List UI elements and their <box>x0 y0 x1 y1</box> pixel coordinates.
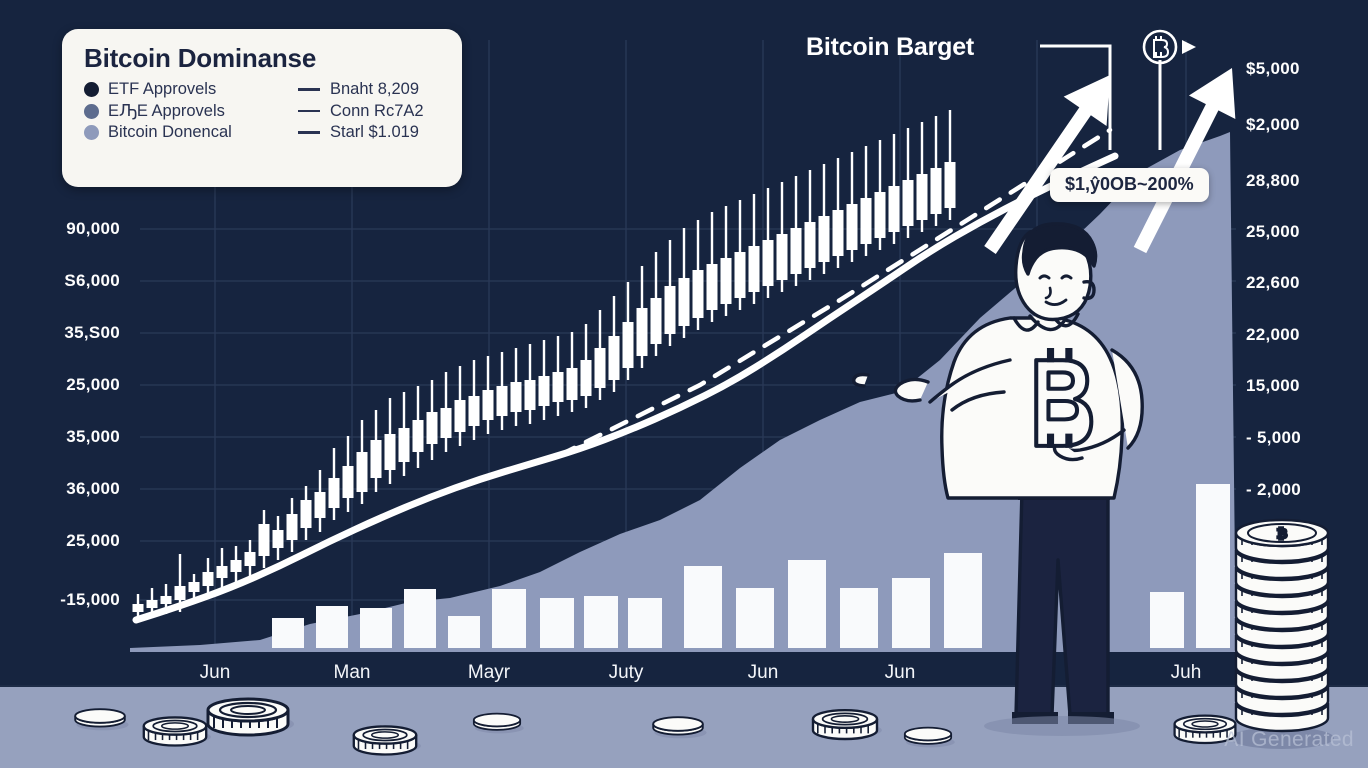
legend-item-1[interactable]: EԠE ApprovelsConn Rc7A2 <box>84 101 442 121</box>
loose-coin-6 <box>813 710 882 739</box>
loose-coin-3 <box>354 726 421 754</box>
person-with-bitcoin-sweater <box>854 224 1143 724</box>
chart-canvas: ₿ 90,000S6,00035,S0025,00035,00036,00025… <box>0 0 1368 768</box>
legend-item-value: Bnaht 8,209 <box>330 80 419 99</box>
loose-coin-7 <box>905 728 955 748</box>
legend-dash-icon <box>298 131 320 134</box>
legend-dash-icon <box>298 110 320 113</box>
coin-stack-bitcoin-glyph: ₿ <box>1277 526 1288 541</box>
legend-title: Bitcoin Dominanse <box>84 43 442 74</box>
legend-color-dot-icon <box>84 82 99 97</box>
loose-coin-4 <box>474 714 524 734</box>
legend-item-0[interactable]: ETF ApprovelsBnaht 8,209 <box>84 80 442 99</box>
legend-item-label: ETF Approvels <box>108 80 298 99</box>
coin-stack: ₿ <box>1230 520 1334 749</box>
legend-dash-icon <box>298 88 320 91</box>
legend-rows: ETF ApprovelsBnaht 8,209EԠE ApprovelsCon… <box>84 80 442 142</box>
loose-coin-2 <box>208 699 294 735</box>
person-shadow <box>984 716 1140 736</box>
legend-item-label: EԠE Approvels <box>108 101 298 121</box>
loose-coin-1 <box>144 717 211 745</box>
ai-generated-watermark: AI Generated <box>1224 728 1354 752</box>
legend-item-value: Conn Rc7A2 <box>330 102 424 121</box>
legend-item-label: Bitcoin Donencal <box>108 123 298 142</box>
annotation-title: Bitcoin Barget <box>806 33 974 62</box>
legend-item-value: Starl $1.019 <box>330 123 419 142</box>
loose-coin-5 <box>653 717 706 738</box>
legend-color-dot-icon <box>84 125 99 140</box>
price-callout-badge: $1,ŷ0OB~200% <box>1050 168 1209 202</box>
loose-coin-0 <box>75 709 128 730</box>
legend-card[interactable]: Bitcoin Dominanse ETF ApprovelsBnaht 8,2… <box>62 29 462 187</box>
legend-color-dot-icon <box>84 104 99 119</box>
legend-item-2[interactable]: Bitcoin DonencalStarl $1.019 <box>84 123 442 142</box>
